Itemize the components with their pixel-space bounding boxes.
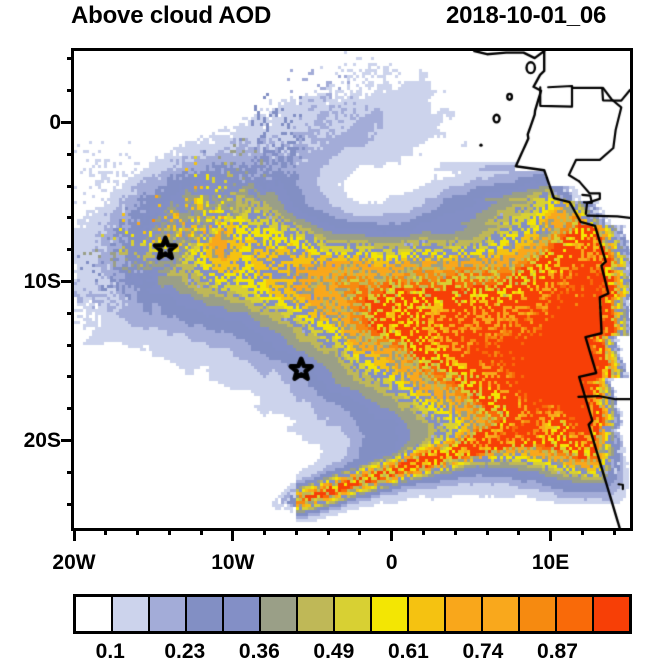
y-tick--4	[67, 185, 74, 188]
x-tick-2	[422, 528, 425, 535]
x-tick-0	[390, 528, 393, 541]
colorbar-tick-label-3: 0.49	[313, 640, 354, 664]
y-tick--10	[61, 280, 74, 283]
colorbar-cell-1	[113, 597, 150, 631]
y-tick--18	[67, 407, 74, 410]
y-tick--2	[67, 153, 74, 156]
page-title: Above cloud AOD	[71, 2, 271, 30]
x-axis-label-2: 0	[386, 551, 398, 575]
x-tick-14	[613, 528, 616, 535]
colorbar-cell-7	[335, 597, 372, 631]
x-tick--8	[263, 528, 266, 535]
colorbar-tick-label-2: 0.36	[239, 640, 280, 664]
x-tick-6	[486, 528, 489, 535]
x-axis-label-0: 20W	[52, 551, 95, 575]
y-tick--6	[67, 216, 74, 219]
colorbar-cell-12	[520, 597, 557, 631]
colorbar-tick-label-0: 0.1	[96, 640, 125, 664]
x-tick--16	[136, 528, 139, 535]
x-tick--14	[168, 528, 171, 535]
colorbar-cell-4	[224, 597, 261, 631]
x-tick--10	[231, 528, 234, 541]
colorbar-tick-label-1: 0.23	[164, 640, 205, 664]
colorbar-cell-10	[446, 597, 483, 631]
colorbar-tick-label-4: 0.61	[388, 640, 429, 664]
x-tick-4	[454, 528, 457, 535]
colorbar-cell-14	[594, 597, 629, 631]
y-axis-label-0: 0	[49, 111, 61, 135]
y-axis-label-2: 20S	[24, 429, 61, 453]
y-tick--8	[67, 248, 74, 251]
x-axis-label-3: 10E	[532, 551, 569, 575]
x-tick-8	[517, 528, 520, 535]
colorbar-cell-6	[298, 597, 335, 631]
x-tick--6	[295, 528, 298, 535]
colorbar-cell-5	[261, 597, 298, 631]
colorbar-cell-2	[150, 597, 187, 631]
date-label: 2018-10-01_06	[446, 2, 606, 30]
x-tick-12	[581, 528, 584, 535]
colorbar-tick-label-6: 0.87	[537, 640, 578, 664]
y-tick--20	[61, 439, 74, 442]
map-plot-area	[71, 48, 633, 531]
y-tick-2	[67, 89, 74, 92]
colorbar-cell-11	[483, 597, 520, 631]
x-tick--12	[200, 528, 203, 535]
x-tick--20	[73, 528, 76, 541]
y-tick--14	[67, 344, 74, 347]
colorbar-cell-3	[187, 597, 224, 631]
y-tick--24	[67, 503, 74, 506]
colorbar-cell-13	[557, 597, 594, 631]
figure-root: Above cloud AOD 2018-10-01_06 20W10W010E…	[0, 0, 650, 667]
x-tick-10	[549, 528, 552, 541]
y-tick--22	[67, 471, 74, 474]
x-tick--18	[104, 528, 107, 535]
colorbar-tick-label-5: 0.74	[462, 640, 503, 664]
x-tick--4	[327, 528, 330, 535]
y-tick--16	[67, 375, 74, 378]
colorbar-cell-0	[76, 597, 113, 631]
colorbar-cell-9	[409, 597, 446, 631]
colorbar	[73, 594, 632, 634]
y-tick-0	[61, 121, 74, 124]
y-axis-label-1: 10S	[24, 270, 61, 294]
x-tick--2	[358, 528, 361, 535]
coastline-overlay-canvas	[74, 51, 630, 528]
colorbar-cell-8	[372, 597, 409, 631]
x-axis-label-1: 10W	[211, 551, 254, 575]
y-tick-4	[67, 57, 74, 60]
y-tick--12	[67, 312, 74, 315]
